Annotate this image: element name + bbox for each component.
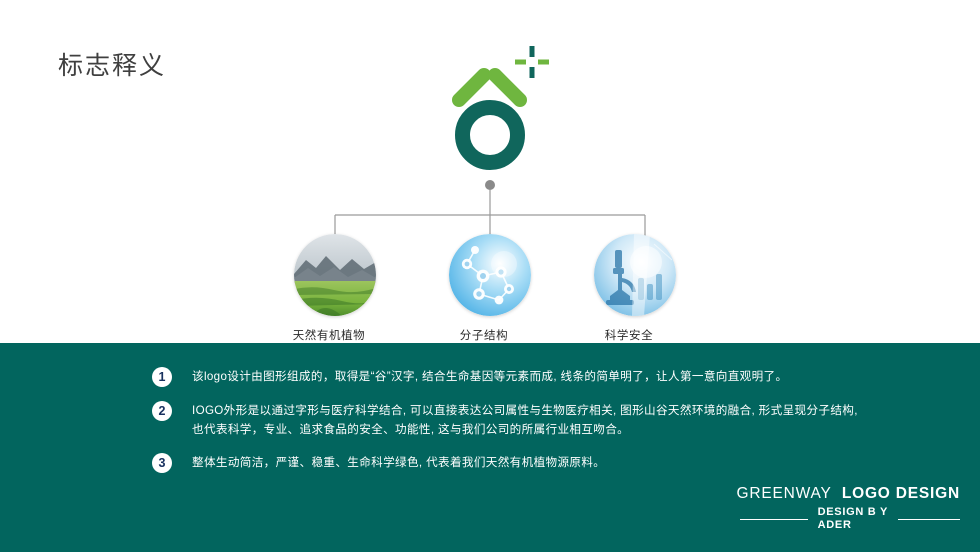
bullet-text: 整体生动简洁，严谨、稳重、生命科学绿色, 代表着我们天然有机植物源原料。 [192, 453, 605, 472]
concept-node-molecular-structure[interactable]: 分子结构 [449, 234, 531, 343]
concept-node-label: 分子结构 [443, 327, 525, 343]
brand-rule-right [898, 519, 960, 520]
concept-node-scientific-safety[interactable]: 科学安全 [594, 234, 676, 343]
greenway-logo-mark [440, 38, 560, 178]
bullet-text: IOGO外形是以通过字形与医疗科学结合, 可以直接表达公司属性与生物医疗相关, … [192, 401, 858, 439]
brand-subtitle: DESIGN B Y ADER [818, 506, 888, 532]
bullet-line: 该logo设计由图形组成的，取得是“谷”汉字, 结合生命基因等元素而成, 线条的… [192, 367, 787, 386]
concept-node-label: 天然有机植物 [288, 327, 370, 343]
bullet-line: 也代表科学，专业、追求食品的安全、功能性, 这与我们公司的所属行业相互吻合。 [192, 420, 858, 439]
list-item: 1 该logo设计由图形组成的，取得是“谷”汉字, 结合生命基因等元素而成, 线… [152, 367, 922, 387]
molecule-photo [449, 234, 531, 316]
brand-footer: GREENWAY LOGO DESIGN DESIGN B Y ADER [660, 485, 960, 532]
brand-subtitle-line1: DESIGN B Y [818, 506, 888, 519]
logo-spark-cross [515, 46, 549, 78]
brand-title: GREENWAY LOGO DESIGN [660, 485, 960, 503]
bullet-number-badge: 2 [152, 401, 172, 421]
connector-tree [300, 178, 690, 240]
explanation-list: 1 该logo设计由图形组成的，取得是“谷”汉字, 结合生命基因等元素而成, 线… [152, 367, 922, 487]
bullet-text: 该logo设计由图形组成的，取得是“谷”汉字, 结合生命基因等元素而成, 线条的… [192, 367, 787, 386]
bullet-line: IOGO外形是以通过字形与医疗科学结合, 可以直接表达公司属性与生物医疗相关, … [192, 401, 858, 420]
concept-node-label: 科学安全 [588, 327, 670, 343]
brand-title-greenway: GREENWAY [737, 485, 832, 502]
list-item: 2 IOGO外形是以通过字形与医疗科学结合, 可以直接表达公司属性与生物医疗相关… [152, 401, 922, 439]
bullet-line: 整体生动简洁，严谨、稳重、生命科学绿色, 代表着我们天然有机植物源原料。 [192, 453, 605, 472]
bullet-number-badge: 1 [152, 367, 172, 387]
slide-canvas: 标志释义 [0, 0, 980, 552]
brand-subtitle-line2: ADER [818, 519, 888, 532]
logo-right-green-bar [495, 75, 520, 100]
list-item: 3 整体生动简洁，严谨、稳重、生命科学绿色, 代表着我们天然有机植物源原料。 [152, 453, 922, 473]
brand-rule-left [740, 519, 808, 520]
brand-title-logo-design: LOGO DESIGN [842, 485, 960, 502]
logo-teal-ring [463, 108, 518, 163]
microscope-photo [594, 234, 676, 316]
bullet-number-badge: 3 [152, 453, 172, 473]
concept-node-natural-plants[interactable]: 天然有机植物 [294, 234, 376, 343]
connector-hub-dot [485, 180, 495, 190]
page-title: 标志释义 [58, 46, 166, 82]
tea-field-photo [294, 234, 376, 316]
explanation-panel: 1 该logo设计由图形组成的，取得是“谷”汉字, 结合生命基因等元素而成, 线… [0, 343, 980, 552]
brand-subtitle-row: DESIGN B Y ADER [660, 506, 960, 532]
logo-left-green-bar [459, 75, 484, 100]
